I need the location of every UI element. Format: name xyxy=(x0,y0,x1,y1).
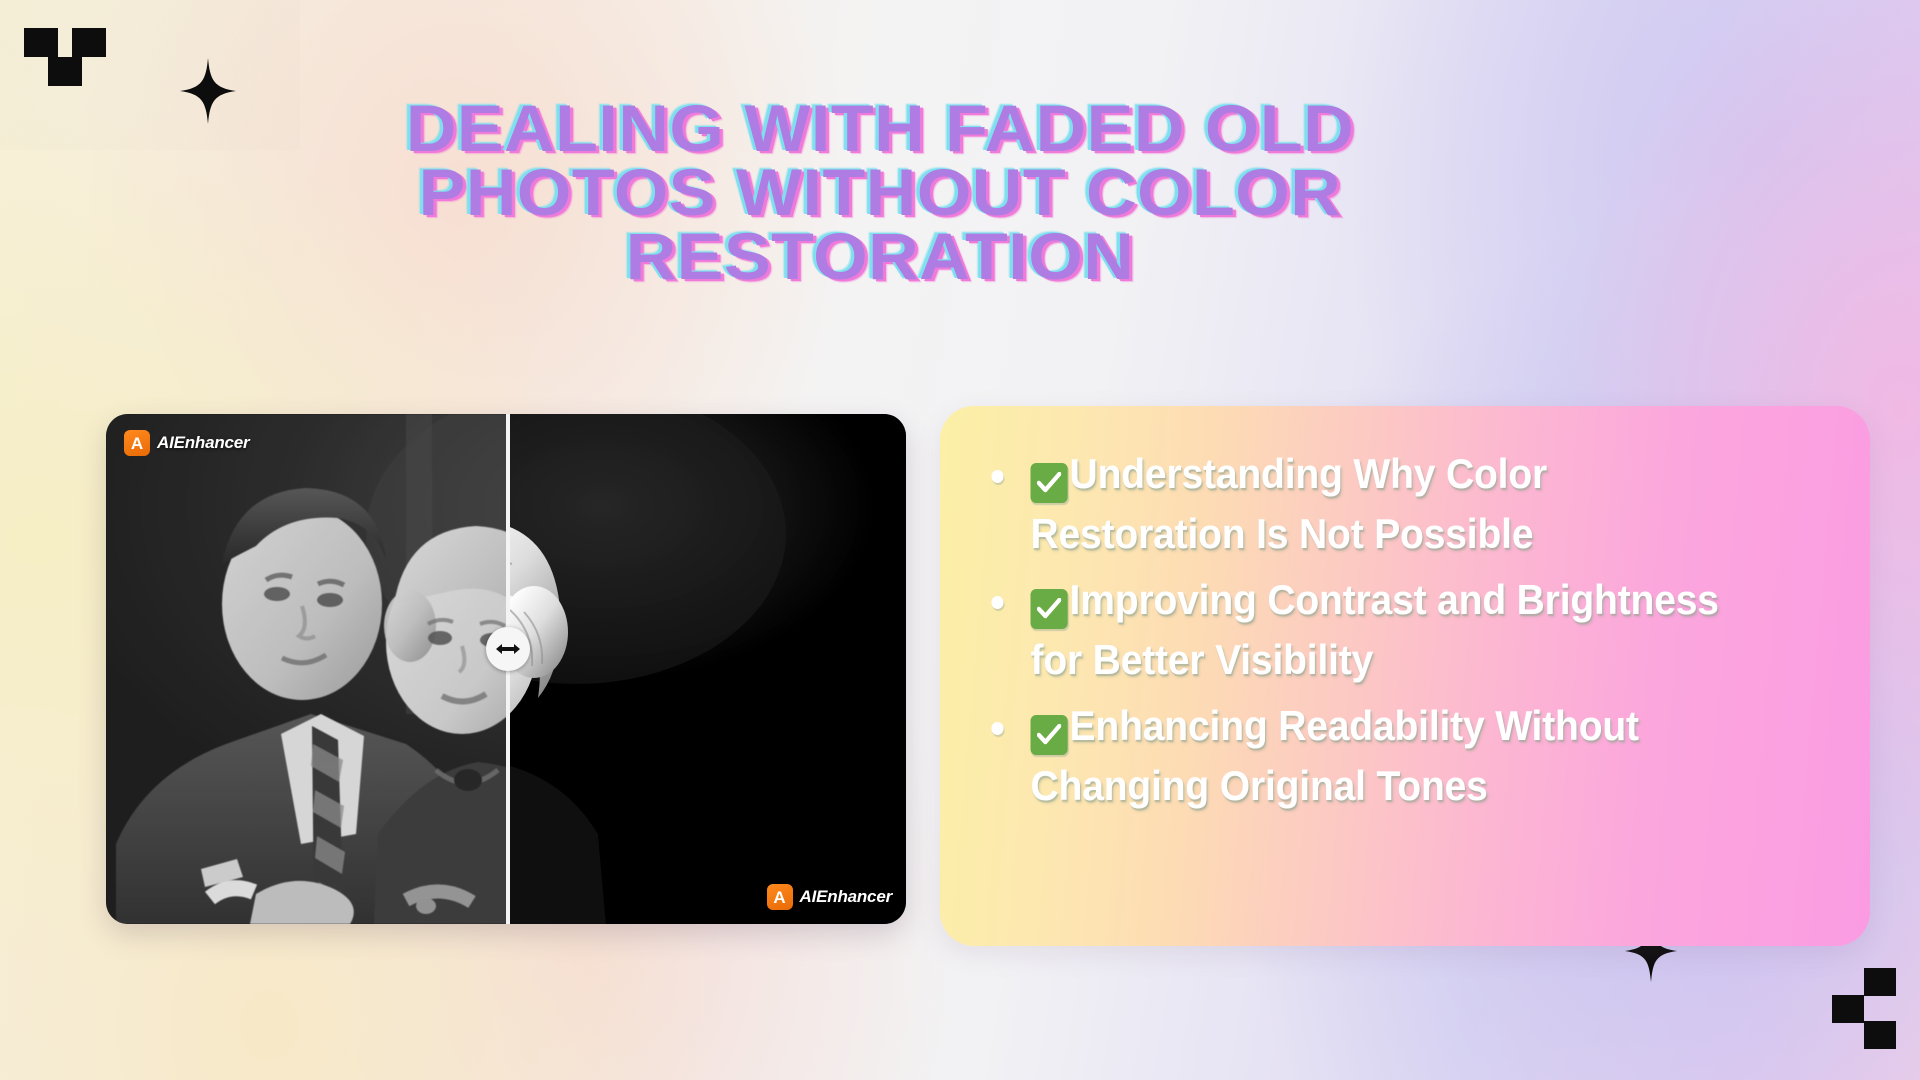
list-item-text: Understanding Why Color Restoration Is N… xyxy=(1031,450,1548,557)
checkerboard-decoration-bottom-right xyxy=(1820,968,1896,1046)
aienhancer-logo-icon: A xyxy=(124,430,150,456)
watermark-label: AIEnhancer xyxy=(800,887,892,907)
title-line-2: PHOTOS WITHOUT COLOR xyxy=(419,155,1342,229)
horizontal-resize-arrow-icon xyxy=(495,642,521,656)
list-item-text: Improving Contrast and Brightness for Be… xyxy=(1031,576,1719,683)
list-item: Understanding Why Color Restoration Is N… xyxy=(984,444,1767,564)
list-item: Improving Contrast and Brightness for Be… xyxy=(984,570,1767,690)
check-mark-button-icon xyxy=(1031,715,1068,755)
bullet-list: Understanding Why Color Restoration Is N… xyxy=(984,444,1826,816)
check-mark-button-icon xyxy=(1031,463,1068,503)
watermark-label: AIEnhancer xyxy=(157,433,249,453)
title-line-1: DEALING WITH FADED OLD xyxy=(406,91,1354,165)
list-item-text: Enhancing Readability Without Changing O… xyxy=(1031,702,1639,809)
watermark-bottom-right: A AIEnhancer xyxy=(767,884,892,910)
photo-before-half: A AIEnhancer xyxy=(106,414,506,924)
page-title: DEALING WITH FADED OLD PHOTOS WITHOUT CO… xyxy=(350,96,1410,288)
title-line-3: RESTORATION xyxy=(626,219,1135,293)
aienhancer-logo-icon: A xyxy=(767,884,793,910)
watermark-top-left: A AIEnhancer xyxy=(124,430,249,456)
checkerboard-decoration-top-left xyxy=(24,28,106,86)
before-after-photo-comparison[interactable]: A AIEnhancer xyxy=(106,414,906,924)
bullet-dot-icon xyxy=(991,470,1003,483)
check-mark-button-icon xyxy=(1031,589,1068,629)
bullet-dot-icon xyxy=(991,722,1003,735)
slide-canvas: DEALING WITH FADED OLD PHOTOS WITHOUT CO… xyxy=(0,0,1920,1080)
key-points-panel: Understanding Why Color Restoration Is N… xyxy=(940,406,1870,946)
bullet-dot-icon xyxy=(991,596,1003,609)
list-item: Enhancing Readability Without Changing O… xyxy=(984,696,1767,816)
comparison-slider-handle[interactable] xyxy=(486,627,530,671)
photo-after-half: A AIEnhancer xyxy=(508,414,906,924)
sparkle-icon-top-left xyxy=(180,58,236,124)
